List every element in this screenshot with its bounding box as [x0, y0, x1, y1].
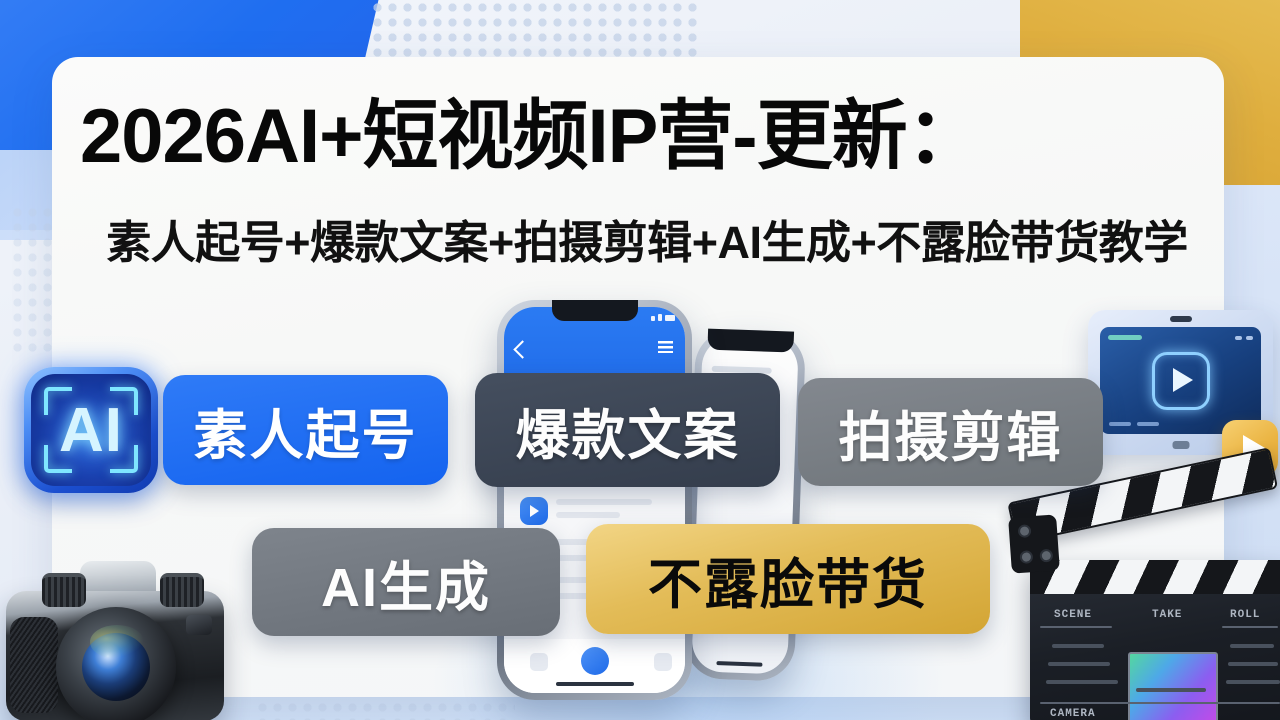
list-line [556, 499, 652, 505]
ai-logo-badge: AI [24, 367, 158, 493]
tablet-tag [1108, 335, 1142, 340]
clapper-field-take: TAKE [1152, 609, 1182, 621]
tablet-screen [1100, 327, 1261, 434]
camera-lens [56, 607, 176, 720]
tablet-status-dot [1246, 336, 1253, 340]
clapperboard-fields: SCENE TAKE ROLL CAMERA [1040, 604, 1278, 719]
decor-dot-grid-top [370, 0, 700, 60]
list-line [556, 512, 620, 518]
clapper-field-roll: ROLL [1230, 609, 1260, 621]
phone-tab-bar [504, 639, 685, 693]
clapper-field-camera: CAMERA [1050, 708, 1096, 720]
back-chevron-icon[interactable] [513, 340, 531, 358]
camera-viewfinder [186, 615, 212, 635]
hinge-screw [1019, 550, 1033, 564]
phone-back-home-indicator [716, 661, 762, 667]
play-icon[interactable] [520, 497, 548, 525]
pill-bulu-lian-daihuo[interactable]: 不露脸带货 [586, 524, 990, 634]
page-subtitle: 素人起号+爆款文案+拍摄剪辑+AI生成+不露脸带货教学 [72, 216, 1222, 270]
home-indicator [556, 682, 634, 686]
clapperboard-preview-thumbnail [1128, 652, 1218, 720]
field-rule [1040, 626, 1112, 628]
phone-front-notch [552, 300, 638, 321]
tablet-control-bar [1109, 422, 1131, 426]
pill-suren-qihao[interactable]: 素人起号 [163, 375, 448, 485]
phone-back-notch [707, 329, 794, 353]
wifi-icon [658, 314, 662, 321]
field-line [1052, 644, 1104, 648]
field-line [1230, 644, 1274, 648]
page-title: 2026AI+短视频IP营-更新： [80, 96, 1210, 178]
tab-icon-create[interactable] [581, 647, 609, 675]
clapper-field-scene: SCENE [1054, 609, 1092, 621]
camera-dial-left [42, 573, 86, 607]
clapperboard-hinge [1008, 514, 1060, 573]
clapperboard-icon: SCENE TAKE ROLL CAMERA [1008, 500, 1280, 720]
pill-paishe-jianji[interactable]: 拍摄剪辑 [798, 378, 1103, 486]
camera-grip [10, 617, 58, 713]
smartphone-icon-front [497, 300, 692, 700]
tablet-camera-icon [1170, 316, 1192, 322]
promo-poster: 2026AI+短视频IP营-更新： 素人起号+爆款文案+拍摄剪辑+AI生成+不露… [0, 0, 1280, 720]
scan-bracket-icon-top-left [44, 387, 72, 415]
pill-ai-shengcheng[interactable]: AI生成 [252, 528, 560, 636]
hamburger-menu-icon[interactable] [658, 341, 673, 353]
tablet-controls [1109, 422, 1159, 426]
scan-bracket-icon-top-right [110, 387, 138, 415]
status-bar-icons [651, 314, 675, 321]
field-rule [1222, 626, 1278, 628]
tablet-status-dot [1235, 336, 1242, 340]
signal-icon [651, 316, 655, 321]
camera-dial-right [160, 573, 204, 607]
field-line [1228, 662, 1278, 666]
play-icon[interactable] [1152, 352, 1210, 410]
field-line [1048, 662, 1110, 666]
tab-icon-profile[interactable] [654, 653, 672, 671]
tablet-status-icons [1235, 336, 1253, 340]
scan-bracket-icon-bottom-left [44, 445, 72, 473]
field-line [1226, 680, 1280, 684]
tab-icon-home[interactable] [530, 653, 548, 671]
tablet-control-bar [1137, 422, 1159, 426]
clapperboard-stripe-bottom [1030, 560, 1280, 594]
clapperboard-body: SCENE TAKE ROLL CAMERA [1030, 560, 1280, 720]
field-rule [1040, 702, 1280, 704]
field-line [1136, 688, 1206, 692]
dslr-camera-icon [0, 545, 232, 720]
ai-logo-inner: AI [31, 374, 151, 486]
tablet-home-button [1172, 441, 1189, 449]
hinge-screw [1039, 549, 1053, 563]
hinge-screw [1018, 524, 1032, 538]
scan-bracket-icon-bottom-right [110, 445, 138, 473]
battery-icon [665, 315, 675, 321]
pill-baokuan-wenan[interactable]: 爆款文案 [475, 373, 780, 487]
field-line [1046, 680, 1118, 684]
